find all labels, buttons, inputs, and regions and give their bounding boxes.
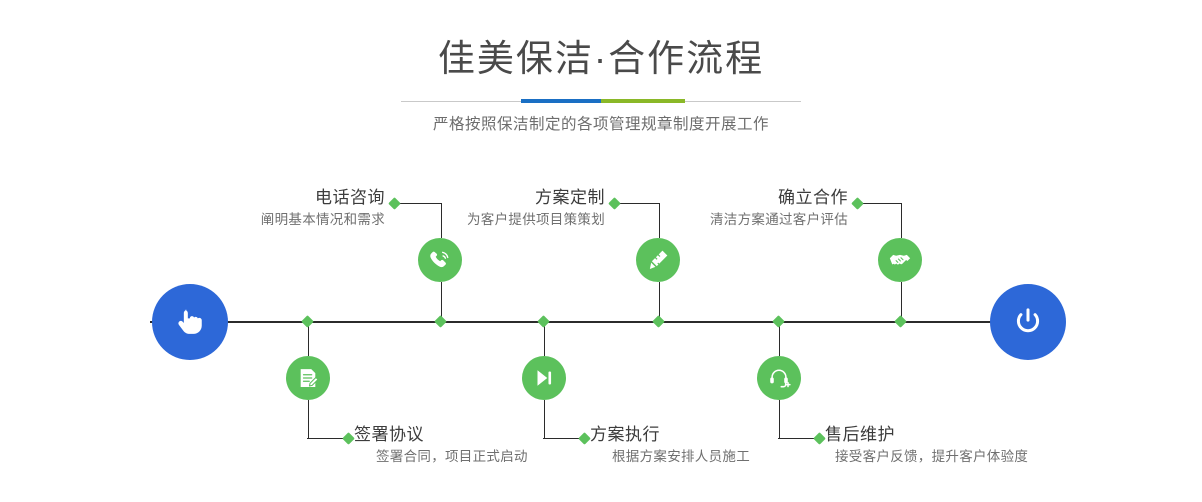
step-icon-headset-support[interactable]	[757, 356, 801, 400]
headset-support-icon	[766, 365, 792, 391]
connector-vertical-2	[308, 400, 309, 439]
connector-diamond-1	[388, 197, 401, 210]
axis-diamond-3	[652, 315, 665, 328]
connector-vertical-3-up	[659, 203, 660, 238]
step-label-2: 签署协议 签署合同，项目正式启动	[354, 424, 528, 468]
handshake-icon	[887, 247, 913, 273]
power-icon	[1008, 302, 1048, 342]
connector-vertical-6	[779, 400, 780, 439]
step-title-2: 签署协议	[354, 424, 528, 446]
timeline-axis	[150, 321, 1052, 323]
step-icon-pencil-ruler[interactable]	[636, 238, 680, 282]
step-label-4: 方案执行 根据方案安排人员施工	[590, 424, 750, 468]
step-icon-play-execute[interactable]	[522, 356, 566, 400]
axis-diamond-1	[434, 315, 447, 328]
connector-diamond-4	[578, 432, 591, 445]
connector-diamond-2	[342, 432, 355, 445]
pointing-hand-icon	[170, 302, 210, 342]
flow-end-node	[990, 284, 1066, 360]
axis-diamond-6	[772, 315, 785, 328]
flow-diagram-page: 佳美保洁·合作流程 严格按照保洁制定的各项管理规章制度开展工作	[0, 0, 1202, 502]
step-title-1: 电话咨询	[261, 187, 385, 209]
connector-vertical-4	[544, 400, 545, 439]
connector-diamond-6	[813, 432, 826, 445]
connector-diamond-3	[608, 197, 621, 210]
pencil-ruler-icon	[645, 247, 671, 273]
step-desc-3: 为客户提供项目策策划	[467, 209, 605, 231]
connector-diamond-5	[851, 197, 864, 210]
step-title-3: 方案定制	[467, 187, 605, 209]
step-desc-6: 接受客户反馈，提升客户体验度	[825, 446, 1028, 468]
connector-horizontal-4	[543, 438, 583, 439]
step-desc-2: 签署合同，项目正式启动	[354, 446, 528, 468]
step-desc-4: 根据方案安排人员施工	[590, 446, 750, 468]
axis-diamond-2	[301, 315, 314, 328]
play-execute-icon	[531, 365, 557, 391]
step-title-5: 确立合作	[710, 187, 848, 209]
connector-horizontal-2	[307, 438, 347, 439]
connector-horizontal-3	[615, 203, 659, 204]
document-sign-icon	[295, 365, 321, 391]
step-label-1: 电话咨询 阐明基本情况和需求	[261, 187, 385, 231]
step-label-6: 售后维护 接受客户反馈，提升客户体验度	[825, 424, 1028, 468]
connector-horizontal-6	[778, 438, 818, 439]
step-label-5: 确立合作 清洁方案通过客户评估	[710, 187, 848, 231]
step-title-4: 方案执行	[590, 424, 750, 446]
axis-diamond-4	[537, 315, 550, 328]
step-icon-document-sign[interactable]	[286, 356, 330, 400]
phone-call-icon	[427, 247, 453, 273]
timeline: 电话咨询 阐明基本情况和需求 签署协议 签署合同，项目正式启动	[0, 0, 1202, 502]
step-title-6: 售后维护	[825, 424, 1028, 446]
connector-vertical-1-up	[441, 203, 442, 238]
connector-horizontal-1	[395, 203, 441, 204]
step-icon-phone-call[interactable]	[418, 238, 462, 282]
step-desc-5: 清洁方案通过客户评估	[710, 209, 848, 231]
connector-vertical-5-up	[901, 203, 902, 238]
flow-start-node	[152, 284, 228, 360]
axis-diamond-5	[894, 315, 907, 328]
connector-horizontal-5	[858, 203, 901, 204]
step-icon-handshake[interactable]	[878, 238, 922, 282]
step-desc-1: 阐明基本情况和需求	[261, 209, 385, 231]
step-label-3: 方案定制 为客户提供项目策策划	[467, 187, 605, 231]
